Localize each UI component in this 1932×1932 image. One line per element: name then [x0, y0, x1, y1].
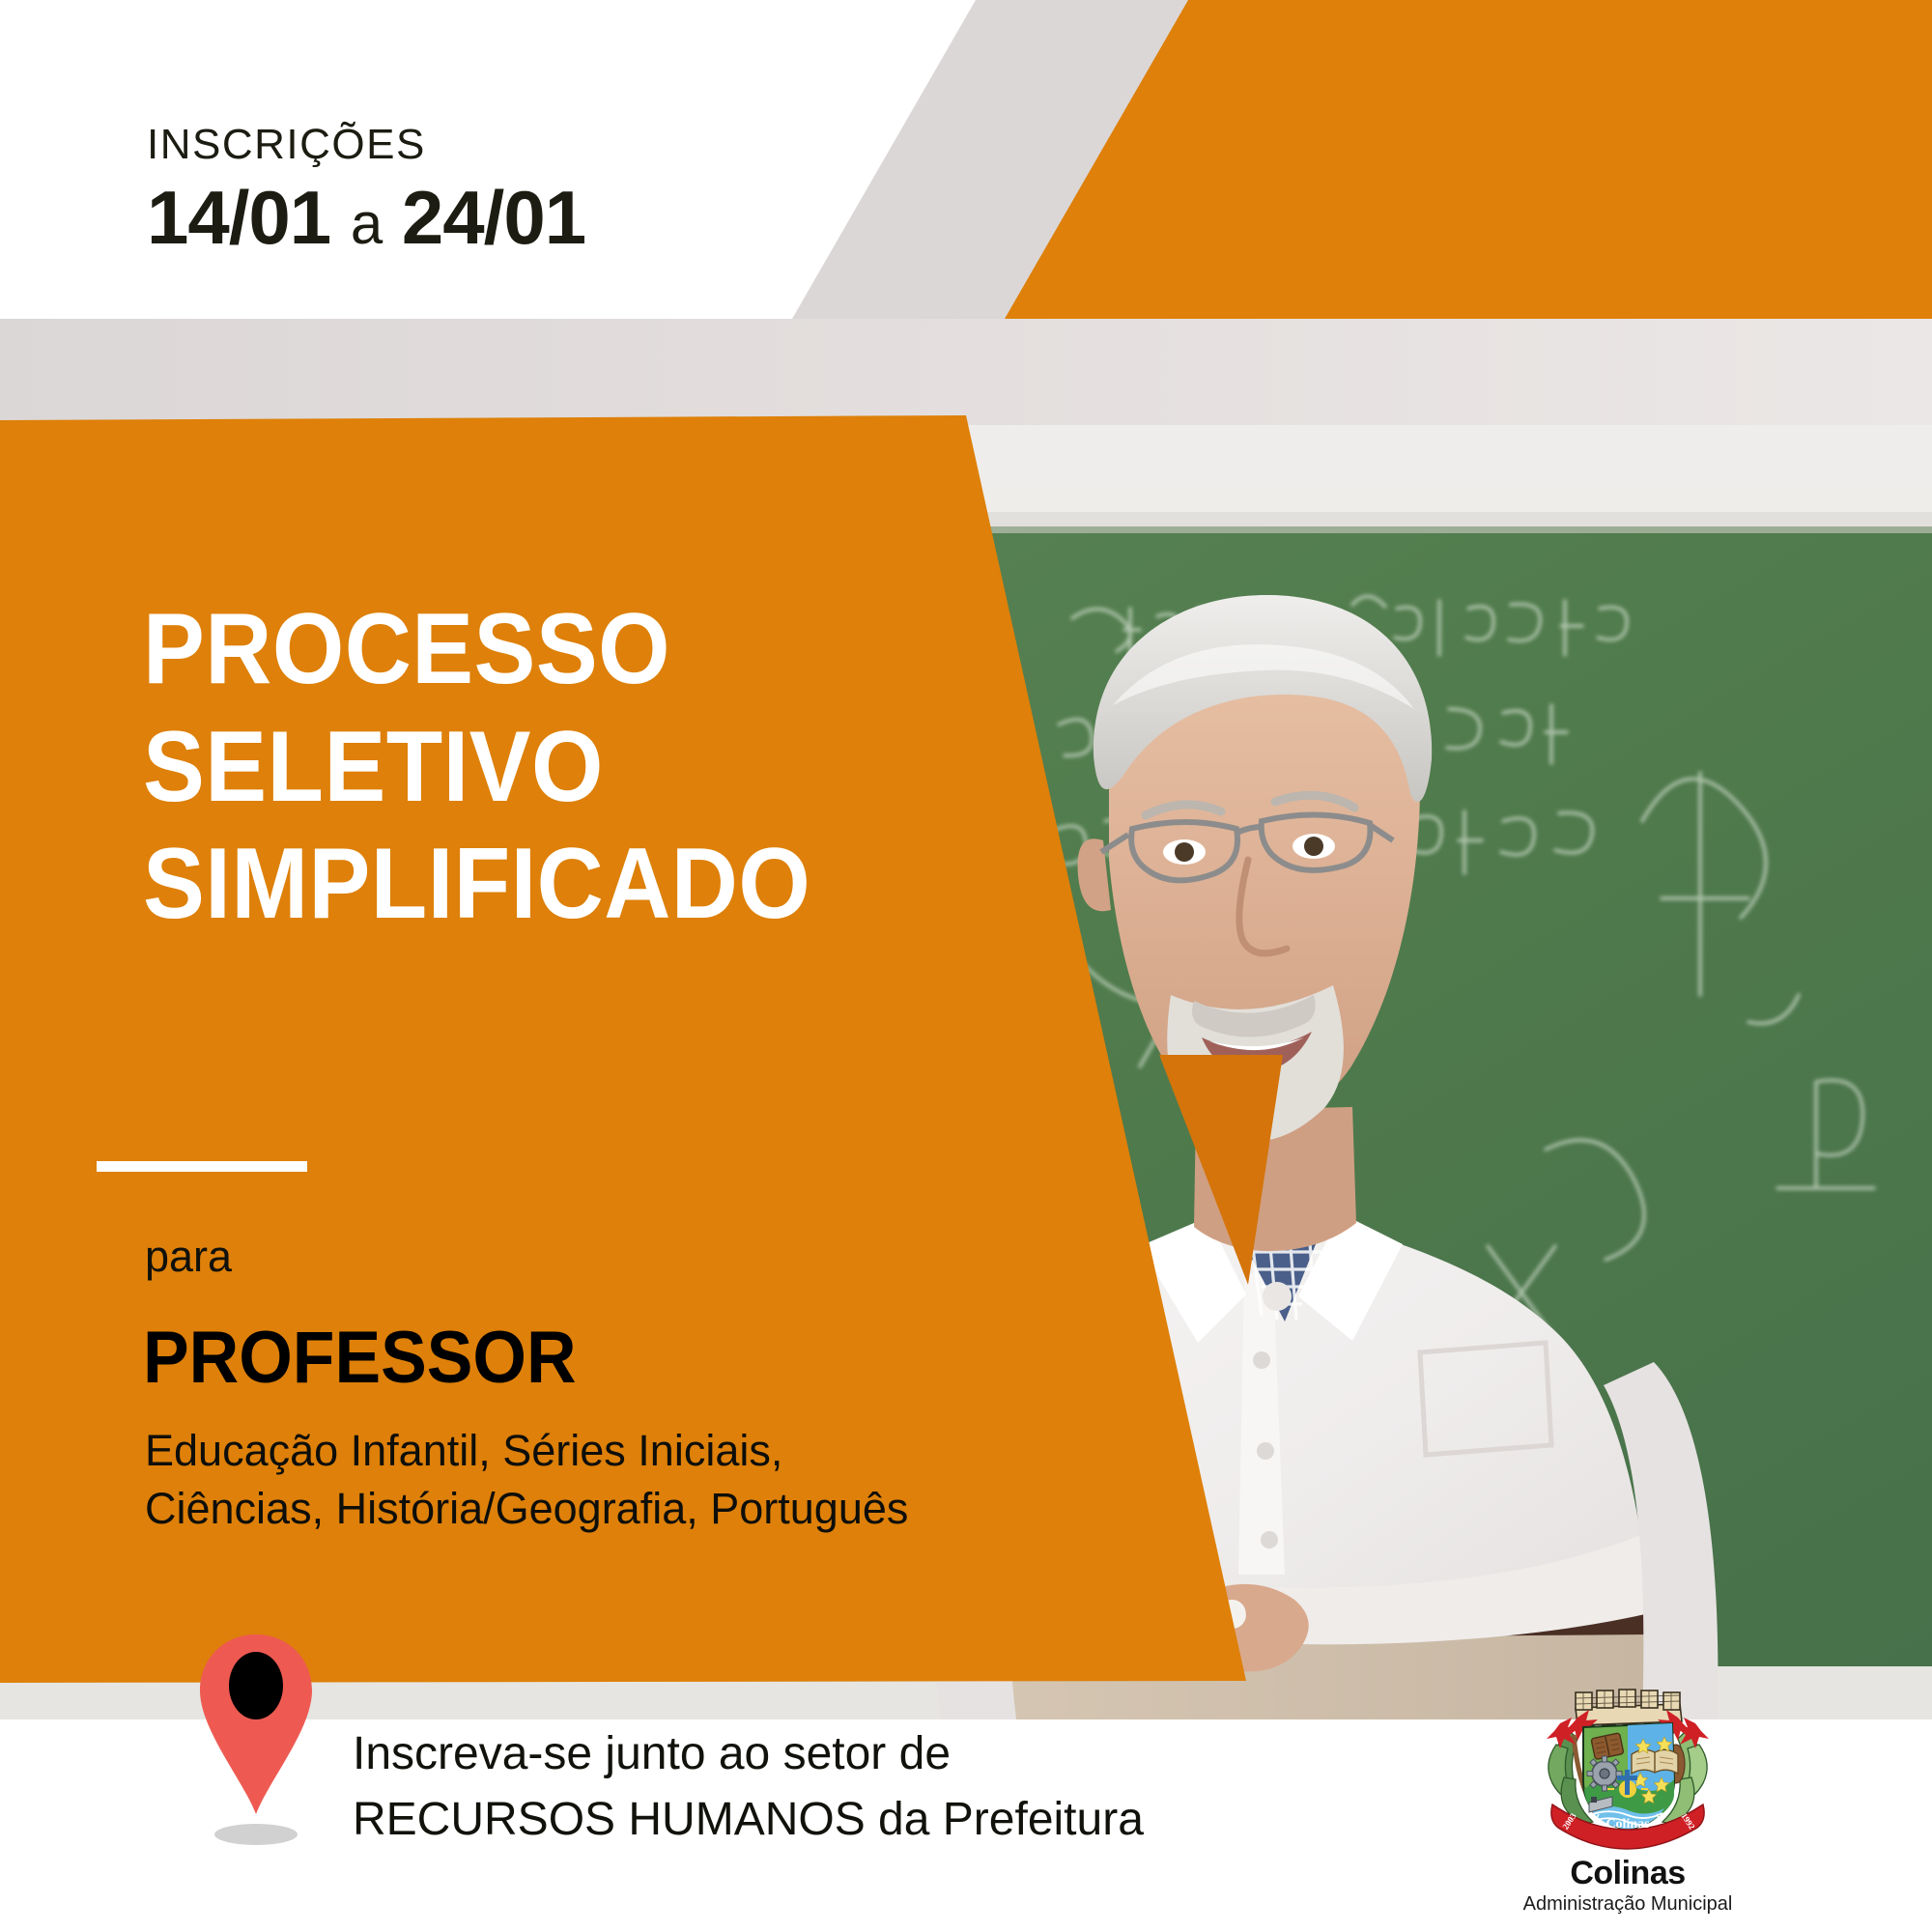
location-pin-shadow — [214, 1824, 298, 1845]
logo-name: Colinas — [1468, 1857, 1787, 1891]
subjects-list: Educação Infantil, Séries Iniciais, Ciên… — [145, 1422, 1159, 1538]
subjects-line-1: Educação Infantil, Séries Iniciais, — [145, 1422, 1159, 1480]
logo-subtitle: Administração Municipal — [1468, 1893, 1787, 1915]
subjects-line-2: Ciências, História/Geografia, Português — [145, 1480, 1159, 1538]
page-title-line-2: SELETIVO — [143, 709, 970, 827]
date-end: 24/01 — [402, 175, 585, 260]
coat-of-arms-icon: Colinas 2003 1992 — [1531, 1681, 1724, 1853]
page-title-line-3: SIMPLIFICADO — [143, 826, 970, 944]
role-title: PROFESSOR — [143, 1321, 577, 1395]
registration-dates: 14/01 a 24/01 — [147, 180, 585, 255]
registration-label: INSCRIÇÕES — [147, 124, 585, 166]
date-separator: a — [351, 191, 382, 256]
location-pin-icon — [198, 1633, 314, 1816]
page-title: PROCESSO SELETIVO SIMPLIFICADO — [143, 591, 970, 944]
title-divider — [97, 1161, 307, 1172]
registration-block: INSCRIÇÕES 14/01 a 24/01 — [147, 124, 585, 255]
crest-ribbon-center: Colinas — [1605, 1817, 1650, 1832]
date-start: 14/01 — [147, 175, 330, 260]
page-title-line-1: PROCESSO — [143, 591, 970, 709]
para-label: para — [145, 1235, 232, 1278]
cta-line-2: RECURSOS HUMANOS da Prefeitura — [353, 1787, 1144, 1853]
cta-line-1: Inscreva-se junto ao setor de — [353, 1721, 1144, 1787]
cta-text: Inscreva-se junto ao setor de RECURSOS H… — [353, 1721, 1144, 1853]
municipal-logo: Colinas 2003 1992 Colinas Administração … — [1468, 1681, 1787, 1915]
poster-root: INSCRIÇÕES 14/01 a 24/01 PROCESSO SELETI… — [0, 0, 1932, 1932]
